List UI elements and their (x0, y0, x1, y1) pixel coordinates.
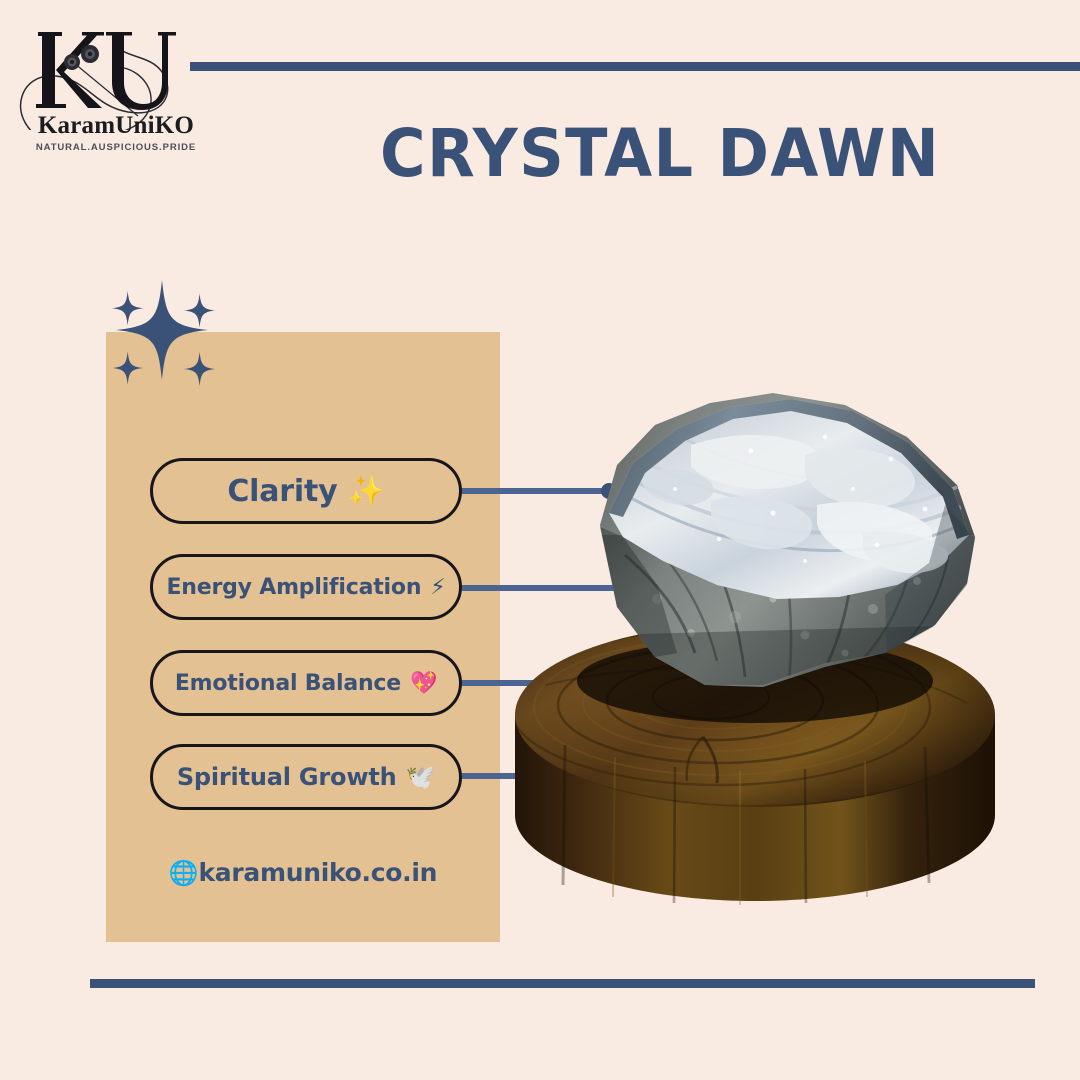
bottom-divider-rule (90, 979, 1035, 988)
product-photo-crystal (505, 385, 1005, 930)
top-divider-rule (190, 62, 1080, 71)
brand-tagline: NATURAL.AUSPICIOUS.PRIDE (16, 142, 216, 153)
page-title: CRYSTAL DAWN (380, 118, 1000, 190)
dove-emoji: 🕊️ (405, 763, 435, 791)
benefit-label: Energy Amplification (166, 575, 421, 600)
website-url: karamuniko.co.in (198, 858, 437, 887)
benefit-label: Clarity (227, 474, 337, 509)
benefit-pill-clarity[interactable]: Clarity ✨ (150, 458, 462, 524)
benefit-pill-emotional-balance[interactable]: Emotional Balance 💖 (150, 650, 462, 716)
high-voltage-emoji: ⚡ (430, 575, 445, 600)
benefit-label: Emotional Balance (175, 671, 401, 696)
sparkle-cluster-icon (96, 278, 256, 418)
benefits-panel (106, 332, 500, 942)
benefit-label: Spiritual Growth (177, 763, 397, 791)
sparkling-heart-emoji: 💖 (410, 671, 437, 696)
benefit-pill-spiritual-growth[interactable]: Spiritual Growth 🕊️ (150, 744, 462, 810)
poster-canvas: KaramUniKO NATURAL.AUSPICIOUS.PRIDE CRYS… (0, 0, 1080, 1080)
globe-icon: 🌐 (169, 859, 199, 887)
website-link[interactable]: 🌐karamuniko.co.in (106, 858, 500, 887)
sparkles-emoji: ✨ (347, 474, 384, 509)
brand-name: KaramUniKO (16, 112, 216, 140)
brand-logo[interactable]: KaramUniKO NATURAL.AUSPICIOUS.PRIDE (16, 20, 216, 165)
benefit-pill-energy-amplification[interactable]: Energy Amplification ⚡ (150, 554, 462, 620)
